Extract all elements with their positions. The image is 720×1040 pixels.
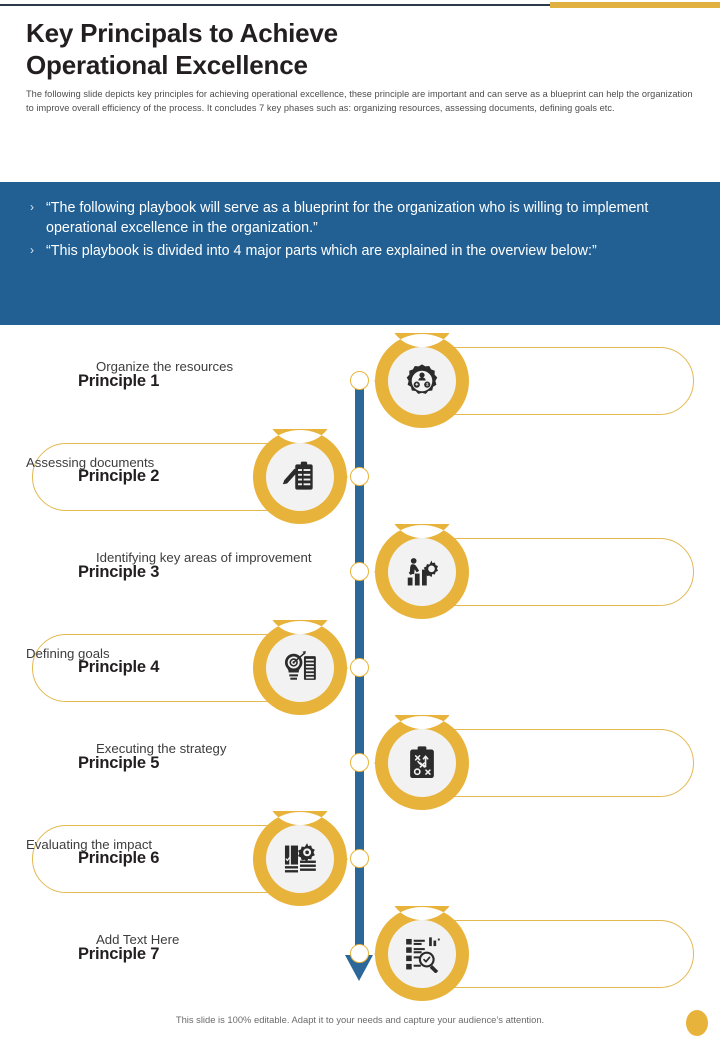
slide-canvas: Key Principals to Achieve Operational Ex… (0, 0, 720, 1040)
quote-list-item: › “This playbook is divided into 4 major… (30, 241, 690, 261)
top-rule-navy (0, 4, 550, 6)
top-rule-gold (550, 2, 720, 8)
timeline-node (350, 467, 369, 486)
principle-description: Organize the resources (96, 333, 702, 401)
footer-note: This slide is 100% editable. Adapt it to… (0, 1014, 720, 1025)
principle-caption: Principle 2 (78, 443, 159, 511)
quote-list-item: › “The following playbook will serve as … (30, 198, 690, 239)
quote-band: › “The following playbook will serve as … (0, 182, 720, 325)
page-title-line-2: Operational Excellence (26, 50, 694, 82)
slide-header: Key Principals to Achieve Operational Ex… (0, 18, 720, 115)
chevron-right-icon: › (30, 198, 46, 217)
principle-description: Identifying key areas of improvement (96, 524, 702, 592)
chevron-right-icon: › (30, 241, 46, 260)
principle-caption: Principle 1 (78, 347, 159, 415)
timeline-node (350, 658, 369, 677)
timeline-node (350, 371, 369, 390)
principle-caption: Principle 6 (78, 825, 159, 893)
footer-accent-dot (686, 1010, 708, 1036)
principle-caption: Principle 7 (78, 920, 159, 988)
quote-text: “The following playbook will serve as a … (46, 198, 690, 239)
page-title-line-1: Key Principals to Achieve (26, 18, 694, 50)
timeline-node (350, 753, 369, 772)
page-subtitle: The following slide depicts key principl… (26, 88, 696, 115)
quote-list: › “The following playbook will serve as … (30, 198, 690, 263)
principle-description: Executing the strategy (96, 715, 702, 783)
quote-text: “This playbook is divided into 4 major p… (46, 241, 690, 261)
principle-description: Add Text Here (96, 906, 702, 974)
principle-caption: Principle 3 (78, 538, 159, 606)
timeline-node (350, 849, 369, 868)
timeline-node (350, 562, 369, 581)
principle-caption: Principle 5 (78, 729, 159, 797)
page-title: Key Principals to Achieve Operational Ex… (26, 18, 694, 81)
principle-caption: Principle 4 (78, 634, 159, 702)
timeline-node (350, 944, 369, 963)
